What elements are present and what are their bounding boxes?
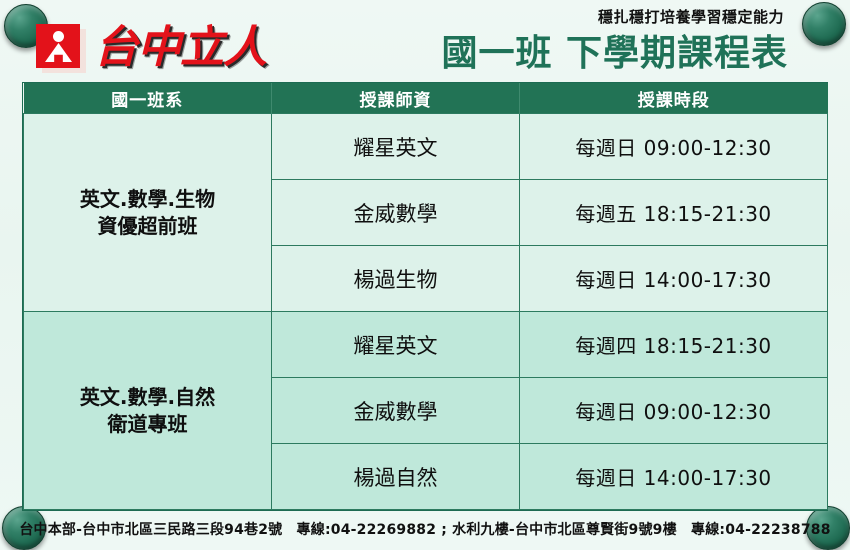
table-header-row: 國一班系 授課師資 授課時段 [24,83,828,114]
cell-time-slot: 每週四 18:15-21:30 [520,312,828,378]
cell-teacher: 耀星英文 [272,312,520,378]
page-title: 國一班 下學期課程表 [441,24,788,76]
cell-teacher: 楊過自然 [272,444,520,510]
logo-figure-head [53,31,64,42]
course-group-name-line2: 衛道專班 [25,411,270,438]
table-row: 英文.數學.自然 衛道專班 耀星英文 每週四 18:15-21:30 [24,312,828,378]
cell-time-slot: 每週日 09:00-12:30 [520,114,828,180]
schedule-table: 國一班系 授課師資 授課時段 英文.數學.生物 資優超前班 耀星英文 每週日 0… [23,83,828,510]
cell-teacher: 金威數學 [272,180,520,246]
poster-header: 台中立人 穩扎穩打培養學習穩定能力 國一班 下學期課程表 [0,0,850,84]
person-in-red-square-logo-icon [36,24,84,72]
course-group-name-line1: 英文.數學.生物 [25,186,270,213]
logo-figure-body [45,43,72,62]
column-header-class: 國一班系 [24,83,272,114]
contact-footer: 台中本部-台中市北區三民路三段94巷2號 專線:04-22269882 ; 水利… [0,519,850,539]
cell-teacher: 楊過生物 [272,246,520,312]
table-row: 英文.數學.生物 資優超前班 耀星英文 每週日 09:00-12:30 [24,114,828,180]
cell-time-slot: 每週日 14:00-17:30 [520,246,828,312]
course-group-name: 英文.數學.自然 衛道專班 [24,312,272,510]
brand-name: 台中立人 [94,24,266,72]
cell-time-slot: 每週日 09:00-12:30 [520,378,828,444]
cell-time-slot: 每週日 14:00-17:30 [520,444,828,510]
poster-root: 台中立人 穩扎穩打培養學習穩定能力 國一班 下學期課程表 國一班系 授課師資 授… [0,0,850,550]
column-header-time: 授課時段 [520,83,828,114]
course-group-name: 英文.數學.生物 資優超前班 [24,114,272,312]
column-header-teacher: 授課師資 [272,83,520,114]
schedule-table-wrapper: 國一班系 授課師資 授課時段 英文.數學.生物 資優超前班 耀星英文 每週日 0… [22,82,828,511]
course-group-name-line2: 資優超前班 [25,213,270,240]
cell-teacher: 金威數學 [272,378,520,444]
logo-red-box [36,24,80,68]
brand-logo: 台中立人 [36,20,266,76]
cell-teacher: 耀星英文 [272,114,520,180]
cell-time-slot: 每週五 18:15-21:30 [520,180,828,246]
course-group-name-line1: 英文.數學.自然 [25,384,270,411]
